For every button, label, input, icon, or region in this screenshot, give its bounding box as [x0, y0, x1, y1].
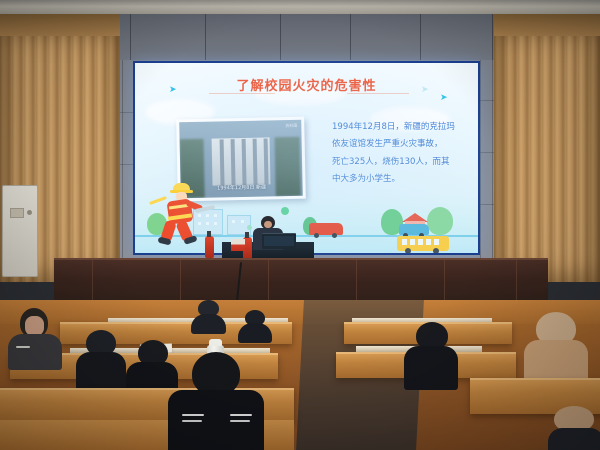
- slide-body-line-3: 死亡325人，烧伤130人，而其: [332, 154, 468, 171]
- projection-screen: 了解校园火灾的危害性 ➤ ➤ ➤ 资料图 1994年12月8日 新疆: [133, 61, 480, 255]
- lecture-hall-photo: 了解校园火灾的危害性 ➤ ➤ ➤ 资料图 1994年12月8日 新疆: [0, 0, 600, 450]
- student-center-ponytail: [168, 352, 264, 450]
- bird-icon-right: ➤: [440, 93, 448, 102]
- photo-badge: 资料图: [285, 123, 297, 129]
- student-far-right: [548, 406, 600, 450]
- wall-air-conditioner: [2, 185, 38, 277]
- bird-icon-left: ➤: [169, 85, 177, 94]
- red-car-icon: [309, 223, 343, 235]
- student-front-left-glasses: [8, 308, 62, 366]
- student-right-dark: [404, 322, 458, 384]
- curtain-right: [494, 14, 600, 282]
- student-center-right: [238, 310, 272, 340]
- slide-body-line-4: 中大多为小学生。: [332, 171, 468, 188]
- student-left-dark: [76, 330, 126, 390]
- student-center-back: [190, 300, 226, 330]
- blue-car-icon: [399, 224, 429, 235]
- school-bus-icon: [397, 236, 449, 251]
- student-right-tan-coat: [524, 312, 588, 388]
- red-equipment-box: [231, 239, 245, 251]
- curtain-rail-left: [0, 14, 120, 36]
- bird-icon-pale: ➤: [421, 85, 429, 94]
- slide-body-text: 1994年12月8日，新疆的克拉玛 依友谊馆发生严重火灾事故， 死亡325人，烧…: [332, 119, 468, 189]
- tree-icon-4: [427, 207, 453, 235]
- laptop: [262, 233, 296, 249]
- slide-body-line-2: 依友谊馆发生严重火灾事故，: [332, 136, 468, 153]
- firefighter-mascot-icon: [155, 181, 209, 245]
- fire-extinguisher-left: [205, 236, 214, 258]
- stage-front-panel: [54, 258, 548, 303]
- stage-apron: [0, 300, 600, 324]
- curtain-rail-right: [494, 14, 600, 36]
- slide-body-line-1: 1994年12月8日，新疆的克拉玛: [332, 119, 468, 136]
